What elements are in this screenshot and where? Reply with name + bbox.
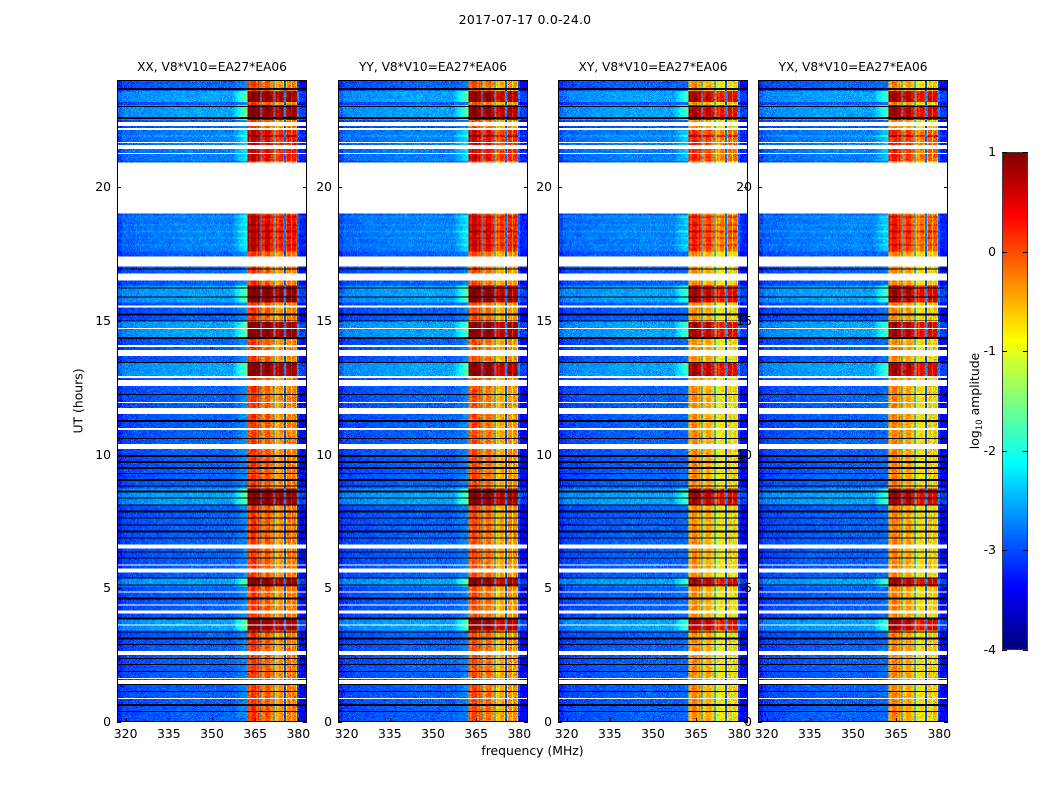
y-tick-label: 10: [81, 447, 111, 462]
colorbar-label-prefix: log: [967, 430, 982, 449]
y-tick-label: 5: [302, 580, 332, 595]
y-tick: [338, 187, 342, 188]
colorbar-tick: [1023, 252, 1028, 253]
colorbar-tick: [1002, 252, 1007, 253]
spectrum-panel-yx[interactable]: [758, 80, 948, 722]
x-tick-label: 335: [367, 726, 413, 741]
spectrum-image-yy: [339, 81, 527, 721]
y-tick: [558, 455, 562, 456]
y-tick-label: 0: [302, 714, 332, 729]
x-tick-label: 335: [146, 726, 192, 741]
y-tick: [944, 455, 948, 456]
x-tick: [696, 718, 697, 722]
x-tick: [433, 718, 434, 722]
y-tick: [758, 455, 762, 456]
x-tick: [939, 718, 940, 722]
colorbar-tick: [1002, 650, 1007, 651]
y-tick: [338, 588, 342, 589]
y-tick-label: 10: [722, 447, 752, 462]
spectrum-panel-yy[interactable]: [338, 80, 528, 722]
x-tick: [896, 718, 897, 722]
x-tick: [212, 718, 213, 722]
y-tick: [338, 455, 342, 456]
y-tick: [117, 321, 121, 322]
y-tick-label: 5: [722, 580, 752, 595]
colorbar-tick: [1023, 152, 1028, 153]
y-tick-label: 20: [302, 179, 332, 194]
y-tick-label: 15: [81, 313, 111, 328]
panel-title-yx: YX, V8*V10=EA27*EA06: [758, 58, 948, 76]
x-tick-label: 350: [410, 726, 456, 741]
y-tick: [338, 321, 342, 322]
colorbar-tick-label: 0: [970, 244, 996, 259]
colorbar-tick: [1023, 550, 1028, 551]
x-tick: [476, 718, 477, 722]
y-tick-label: 0: [722, 714, 752, 729]
x-tick: [390, 718, 391, 722]
x-tick: [767, 718, 768, 722]
x-tick-label: 365: [673, 726, 719, 741]
y-tick: [758, 187, 762, 188]
y-tick: [758, 722, 762, 723]
panel-title-xy: XY, V8*V10=EA27*EA06: [558, 58, 748, 76]
spectrum-image-yx: [759, 81, 947, 721]
y-tick-label: 15: [302, 313, 332, 328]
colorbar-tick: [1023, 351, 1028, 352]
x-tick: [126, 718, 127, 722]
y-tick-label: 20: [722, 179, 752, 194]
x-tick: [610, 718, 611, 722]
y-tick: [758, 321, 762, 322]
colorbar-label-suffix: amplitude: [967, 353, 982, 420]
colorbar-tick-label: -3: [970, 542, 996, 557]
y-tick: [944, 187, 948, 188]
y-tick: [117, 187, 121, 188]
colorbar-tick: [1023, 451, 1028, 452]
spectrum-image-xy: [559, 81, 747, 721]
colorbar-tick: [1002, 550, 1007, 551]
x-tick: [853, 718, 854, 722]
y-tick: [944, 722, 948, 723]
y-tick-label: 10: [302, 447, 332, 462]
y-tick: [117, 722, 121, 723]
y-tick-label: 0: [522, 714, 552, 729]
colorbar-tick: [1023, 650, 1028, 651]
y-tick-label: 0: [81, 714, 111, 729]
x-tick: [347, 718, 348, 722]
y-tick-label: 20: [81, 179, 111, 194]
x-tick: [810, 718, 811, 722]
x-tick: [567, 718, 568, 722]
colorbar-tick: [1002, 451, 1007, 452]
x-tick-label: 335: [787, 726, 833, 741]
x-axis-label: frequency (MHz): [117, 743, 948, 758]
y-tick: [117, 588, 121, 589]
y-tick-label: 15: [522, 313, 552, 328]
spectrum-image-xx: [118, 81, 306, 721]
colorbar[interactable]: [1002, 152, 1028, 650]
y-axis-label: UT (hours): [71, 368, 86, 433]
y-tick: [944, 321, 948, 322]
x-tick-label: 350: [830, 726, 876, 741]
x-tick-label: 365: [232, 726, 278, 741]
x-tick: [255, 718, 256, 722]
colorbar-tick-label: 1: [970, 144, 996, 159]
y-tick: [117, 455, 121, 456]
y-tick: [338, 722, 342, 723]
x-tick: [169, 718, 170, 722]
x-tick: [298, 718, 299, 722]
y-tick-label: 10: [522, 447, 552, 462]
y-tick: [558, 722, 562, 723]
figure-suptitle: 2017-07-17 0.0-24.0: [0, 12, 1050, 27]
colorbar-tick-label: -4: [970, 642, 996, 657]
y-tick: [558, 588, 562, 589]
x-tick: [653, 718, 654, 722]
spectrum-panel-xy[interactable]: [558, 80, 748, 722]
x-tick-label: 365: [873, 726, 919, 741]
spectrum-panel-xx[interactable]: [117, 80, 307, 722]
x-tick-label: 335: [587, 726, 633, 741]
y-tick-label: 20: [522, 179, 552, 194]
figure-canvas: 2017-07-17 0.0-24.0 XX, V8*V10=EA27*EA06…: [0, 0, 1050, 800]
y-tick: [558, 321, 562, 322]
colorbar-label-sub: 10: [975, 419, 985, 430]
x-tick-label: 380: [916, 726, 962, 741]
x-tick-label: 350: [189, 726, 235, 741]
colorbar-label: log10 amplitude: [967, 353, 985, 449]
y-tick-label: 5: [522, 580, 552, 595]
x-tick-label: 365: [453, 726, 499, 741]
panel-title-xx: XX, V8*V10=EA27*EA06: [117, 58, 307, 76]
colorbar-tick: [1002, 351, 1007, 352]
y-tick-label: 15: [722, 313, 752, 328]
y-tick: [944, 588, 948, 589]
y-tick: [558, 187, 562, 188]
colorbar-tick: [1002, 152, 1007, 153]
panel-title-yy: YY, V8*V10=EA27*EA06: [338, 58, 528, 76]
x-tick-label: 350: [630, 726, 676, 741]
x-tick: [519, 718, 520, 722]
y-tick: [758, 588, 762, 589]
y-tick-label: 5: [81, 580, 111, 595]
